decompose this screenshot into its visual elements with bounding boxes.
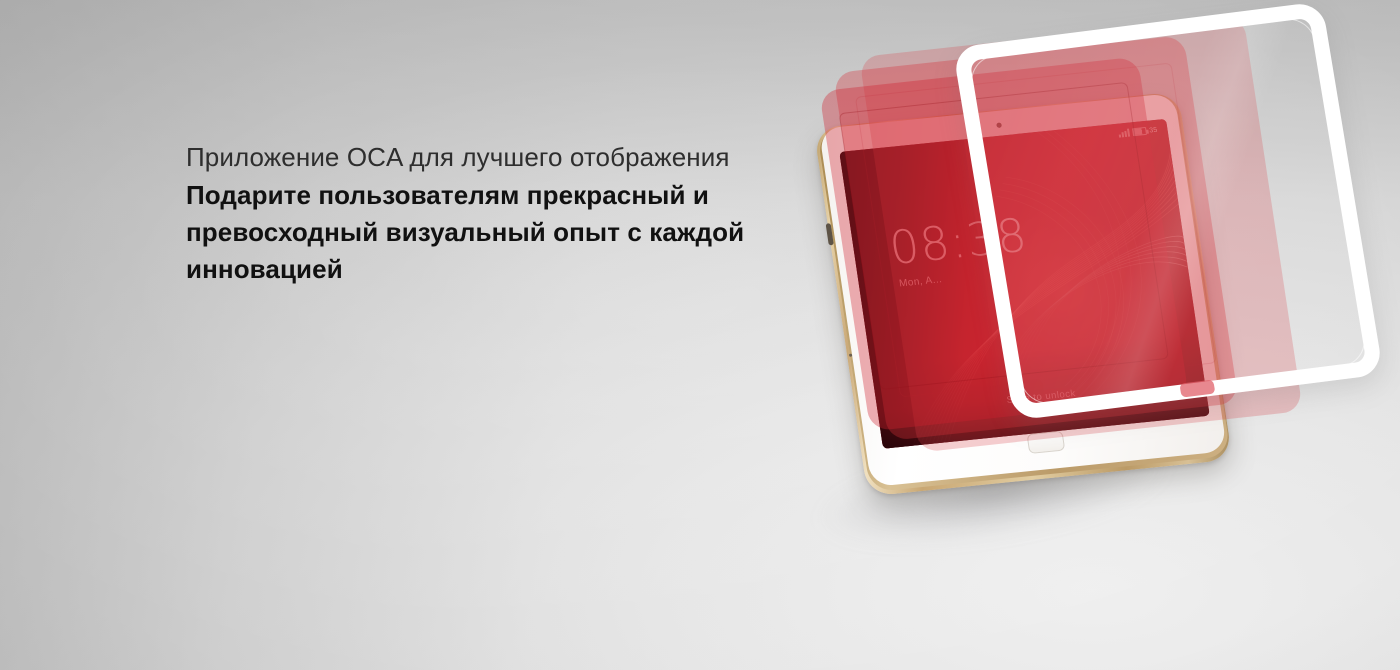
banner-headline: Подарите пользователям прекрасный и прев… [186, 177, 786, 288]
protector-home-cutout [1179, 380, 1215, 398]
protector-frame-outline [967, 16, 1368, 407]
device-composition: 35 08:38 Mon, A... Slide to unlock [760, 0, 1400, 670]
banner-copy: Приложение OCA для лучшего отображения П… [186, 138, 826, 288]
promo-banner: Приложение OCA для лучшего отображения П… [0, 0, 1400, 670]
banner-eyebrow: Приложение OCA для лучшего отображения [186, 138, 826, 176]
white-protector-frame [952, 1, 1383, 421]
